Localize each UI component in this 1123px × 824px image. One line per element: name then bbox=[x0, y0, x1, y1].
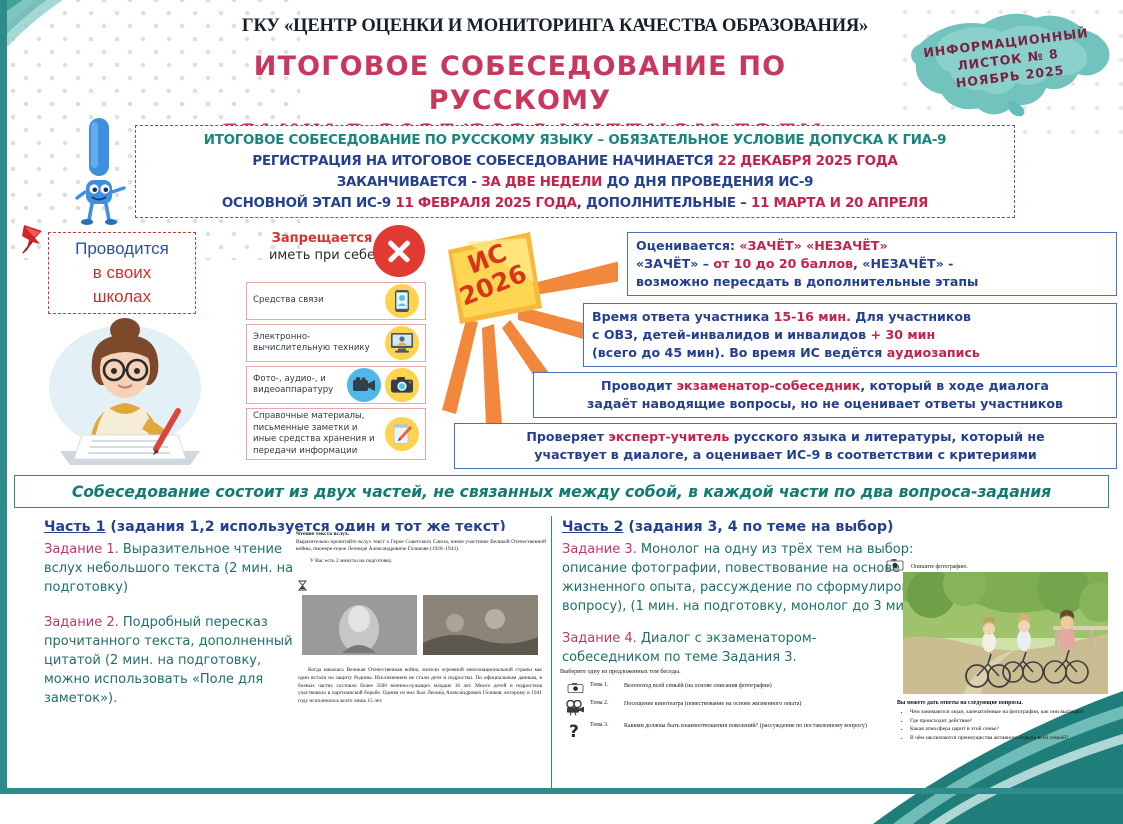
grading-line-2-c: , «НЕЗАЧЁТ» - bbox=[853, 256, 953, 271]
prohibition-item-1-label: Средства связи bbox=[253, 295, 385, 307]
photo-caption-text: Опишите фотографию. bbox=[911, 564, 968, 570]
info-line-4-date-2: 11 МАРТА И 20 АПРЕЛЯ bbox=[751, 196, 928, 211]
expert-line-1-c: русского языка и литературы, который не bbox=[729, 429, 1044, 444]
part2-heading-label: Часть 2 bbox=[562, 519, 623, 535]
part1-heading-label: Часть 1 bbox=[44, 519, 105, 535]
theme-3-number: Тема 3. bbox=[590, 722, 624, 728]
timing-line-3-a: (всего до 45 мин). Во время ИС ведётся bbox=[592, 345, 887, 360]
column-divider bbox=[551, 516, 552, 788]
grading-line-1-b: «ЗАЧЁТ» «НЕЗАЧЁТ» bbox=[739, 238, 887, 253]
timing-line-1-c: Для участников bbox=[851, 309, 971, 324]
theme-row-3: ? Тема 3. Какими должны быть взаимоотнош… bbox=[560, 722, 890, 742]
prohibition-item-1: Средства связи bbox=[246, 282, 426, 320]
timing-line-2-b: + 30 мин bbox=[871, 327, 936, 342]
portrait-photo bbox=[302, 595, 417, 655]
camera-icon bbox=[385, 368, 419, 402]
info-line-2: РЕГИСТРАЦИЯ НА ИТОГОВОЕ СОБЕСЕДОВАНИЕ НА… bbox=[146, 151, 1004, 172]
part2-task3: Задание 3. Монолог на одну из трёх тем н… bbox=[562, 540, 962, 616]
questions-heading: Вы можете дать ответы на следующие вопро… bbox=[897, 700, 1023, 706]
info-line-4-text-c: , ДОПОЛНИТЕЛЬНЫЕ – bbox=[577, 196, 751, 211]
info-line-2-date: 22 ДЕКАБРЯ 2025 ГОДА bbox=[718, 154, 898, 169]
prohibition-item-2-label: Электронно-вычислительную технику bbox=[253, 332, 385, 355]
questions-list: Чем занимаются люди, запечатлённые на фо… bbox=[900, 709, 1123, 743]
grading-line-1-a: Оценивается: bbox=[636, 238, 739, 253]
grading-line-3: возможно пересдать в дополнительные этап… bbox=[636, 273, 1108, 291]
info-line-3: ЗАКАНЧИВАЕТСЯ - ЗА ДВЕ НЕДЕЛИ ДО ДНЯ ПРО… bbox=[146, 172, 1004, 193]
exam-sheet-note: У Вас есть 2 минуты на подготовку. bbox=[310, 558, 546, 564]
theme-1-text: Велопоход всей семьёй (на основе описани… bbox=[624, 682, 890, 690]
theme-row-2: Тема 2. Посещение кинотеатра (повествова… bbox=[560, 700, 890, 716]
timing-line-3-b: аудиозапись bbox=[887, 345, 980, 360]
part1-task1: Задание 1. Выразительное чтение вслух не… bbox=[44, 540, 294, 597]
info-line-4-text-a: ОСНОВНОЙ ЭТАП ИС-9 bbox=[222, 196, 395, 211]
expert-line-1-a: Проверяет bbox=[526, 429, 608, 444]
examiner-line-1-c: , который в ходе диалога bbox=[860, 378, 1049, 393]
part1-task1-label: Задание 1. bbox=[44, 542, 119, 557]
question-item: Где происходит действие? bbox=[910, 718, 1123, 726]
structure-banner-text: Собеседование состоит из двух частей, не… bbox=[72, 483, 1051, 501]
venue-line-2: в своих bbox=[93, 261, 152, 285]
info-line-2-text-a: РЕГИСТРАЦИЯ НА ИТОГОВОЕ СОБЕСЕДОВАНИЕ НА… bbox=[252, 154, 717, 169]
question-item: Чем занимаются люди, запечатлённые на фо… bbox=[910, 709, 1123, 717]
family-cycling-photo bbox=[903, 572, 1108, 694]
part2-task4: Задание 4. Диалог с экзаменатором-собесе… bbox=[562, 629, 892, 667]
camera-icon bbox=[560, 682, 590, 694]
part1-task2-label: Задание 2. bbox=[44, 615, 119, 630]
part2-heading: Часть 2 (задания 3, 4 по теме на выбор) bbox=[562, 519, 893, 535]
prohibition-item-4: Справочные материалы, письменные заметки… bbox=[246, 408, 426, 460]
info-line-1: ИТОГОВОЕ СОБЕСЕДОВАНИЕ ПО РУССКОМУ ЯЗЫКУ… bbox=[146, 130, 1004, 151]
theme-1-number: Тема 1. bbox=[590, 682, 624, 688]
examiner-line-2: задаёт наводящие вопросы, но не оценивае… bbox=[542, 395, 1108, 413]
exam-sheet-heading: Чтение текста вслух. bbox=[296, 531, 546, 537]
structure-banner: Собеседование состоит из двух частей, не… bbox=[14, 475, 1109, 508]
timing-line-1-a: Время ответа участника bbox=[592, 309, 774, 324]
video-camera-icon bbox=[347, 368, 381, 402]
grading-line-2-b: от 10 до 20 баллов bbox=[713, 256, 853, 271]
question-mark-icon: ? bbox=[560, 722, 590, 742]
film-camera-icon bbox=[560, 700, 590, 716]
examiner-line-1-a: Проводит bbox=[601, 378, 677, 393]
expert-box: Проверяет эксперт-учитель русского языка… bbox=[454, 423, 1117, 469]
examiner-line-1: Проводит экзаменатор-собеседник, который… bbox=[542, 377, 1108, 395]
part2-task3-label: Задание 3. bbox=[562, 542, 637, 557]
grading-line-2-a: «ЗАЧЁТ» – bbox=[636, 256, 713, 271]
timing-line-2-a: с ОВЗ, детей-инвалидов и инвалидов bbox=[592, 327, 871, 342]
bottom-edge-bar bbox=[0, 788, 1123, 794]
hourglass-icon bbox=[298, 578, 307, 589]
exam-sheet-photos bbox=[302, 595, 540, 655]
prohibition-item-3: Фото-, аудио-, и видеоаппаратуру bbox=[246, 366, 426, 404]
venue-line-3: школах bbox=[93, 285, 151, 309]
student-writing-illustration bbox=[30, 315, 220, 465]
info-line-3-text-a: ЗАКАНЧИВАЕТСЯ - bbox=[337, 175, 481, 190]
close-icon bbox=[373, 225, 425, 277]
prohibition-item-4-label: Справочные материалы, письменные заметки… bbox=[253, 411, 385, 457]
timing-line-1-b: 15-16 мин. bbox=[774, 309, 851, 324]
computer-icon bbox=[385, 326, 419, 360]
examiner-box: Проводит экзаменатор-собеседник, который… bbox=[533, 372, 1117, 418]
examiner-line-1-b: экзаменатор-собеседник bbox=[677, 378, 861, 393]
prohibition-item-2: Электронно-вычислительную технику bbox=[246, 324, 426, 362]
timing-box: Время ответа участника 15-16 мин. Для уч… bbox=[583, 303, 1117, 367]
prohibition-title-strong: Запрещается bbox=[252, 230, 392, 247]
theme-2-number: Тема 2. bbox=[590, 700, 624, 706]
info-line-1-text: ИТОГОВОЕ СОБЕСЕДОВАНИЕ ПО РУССКОМУ ЯЗЫКУ… bbox=[204, 133, 947, 148]
themes-heading: Выберите одну из предложенных тем беседы… bbox=[560, 668, 890, 675]
info-line-4: ОСНОВНОЙ ЭТАП ИС-9 11 ФЕВРАЛЯ 2025 ГОДА,… bbox=[146, 193, 1004, 214]
poster-canvas: ГКУ «ЦЕНТР ОЦЕНКИ И МОНИТОРИНГА КАЧЕСТВА… bbox=[0, 0, 1123, 794]
left-edge-bar bbox=[0, 0, 7, 794]
timing-line-3: (всего до 45 мин). Во время ИС ведётся а… bbox=[592, 344, 1108, 362]
notepad-pencil-icon bbox=[385, 417, 419, 451]
theme-3-text: Какими должны быть взаимоотношения покол… bbox=[624, 722, 890, 730]
part2-task4-label: Задание 4. bbox=[562, 631, 637, 646]
exam-sheet-paragraph: Выразительно прочитайте вслух текст о Ге… bbox=[296, 539, 546, 553]
info-line-4-date-1: 11 ФЕВРАЛЯ 2025 ГОДА bbox=[395, 196, 576, 211]
exam-sheet-scan: Чтение текста вслух. Выразительно прочит… bbox=[296, 531, 546, 743]
wartime-photo bbox=[423, 595, 538, 655]
camera-icon bbox=[886, 558, 904, 576]
venue-line-1: Проводится bbox=[75, 237, 169, 261]
info-line-3-text-c: ДО ДНЯ ПРОВЕДЕНИЯ ИС-9 bbox=[606, 175, 813, 190]
part1-task2: Задание 2. Подробный пересказ прочитанно… bbox=[44, 613, 294, 708]
question-item: В чём заключаются преимущества активного… bbox=[910, 735, 1123, 743]
exclamation-mascot-icon bbox=[72, 118, 126, 226]
theme-row-1: Тема 1. Велопоход всей семьёй (на основе… bbox=[560, 682, 890, 694]
prohibition-item-3-label: Фото-, аудио-, и видеоаппаратуру bbox=[253, 374, 347, 397]
theme-2-text: Посещение кинотеатра (повествование на о… bbox=[624, 700, 890, 708]
expert-line-1: Проверяет эксперт-учитель русского языка… bbox=[463, 428, 1108, 446]
info-line-3-highlight: ЗА ДВЕ НЕДЕЛИ bbox=[481, 175, 606, 190]
question-item: Какая атмосфера царит в этой семье? bbox=[910, 726, 1123, 734]
page-title-line-1: ИТОГОВОЕ СОБЕСЕДОВАНИЕ ПО РУССКОМУ bbox=[160, 50, 880, 118]
timing-line-2: с ОВЗ, детей-инвалидов и инвалидов + 30 … bbox=[592, 326, 1108, 344]
timing-line-1: Время ответа участника 15-16 мин. Для уч… bbox=[592, 308, 1108, 326]
venue-box: Проводится в своих школах bbox=[48, 232, 196, 314]
prohibition-title: Запрещается иметь при себе bbox=[252, 230, 392, 264]
expert-line-2: участвует в диалоге, а оценивает ИС-9 в … bbox=[463, 446, 1108, 464]
prohibition-title-rest: иметь при себе bbox=[252, 247, 392, 264]
svg-text:?: ? bbox=[569, 722, 579, 742]
organization-title: ГКУ «ЦЕНТР ОЦЕНКИ И МОНИТОРИНГА КАЧЕСТВА… bbox=[175, 16, 935, 37]
part2-heading-rest: (задания 3, 4 по теме на выбор) bbox=[623, 519, 893, 535]
themes-block: Выберите одну из предложенных тем беседы… bbox=[560, 668, 890, 748]
smartphone-icon bbox=[385, 284, 419, 318]
grading-line-2: «ЗАЧЁТ» – от 10 до 20 баллов, «НЕЗАЧЁТ» … bbox=[636, 255, 1108, 273]
grading-box: Оценивается: «ЗАЧЁТ» «НЕЗАЧЁТ» «ЗАЧЁТ» –… bbox=[627, 232, 1117, 296]
key-dates-box: ИТОГОВОЕ СОБЕСЕДОВАНИЕ ПО РУССКОМУ ЯЗЫКУ… bbox=[135, 125, 1015, 218]
grading-line-1: Оценивается: «ЗАЧЁТ» «НЕЗАЧЁТ» bbox=[636, 237, 1108, 255]
expert-line-1-b: эксперт-учитель bbox=[608, 429, 729, 444]
exam-sheet-paragraph-2: Когда началась Великая Отечественная вой… bbox=[298, 667, 542, 705]
